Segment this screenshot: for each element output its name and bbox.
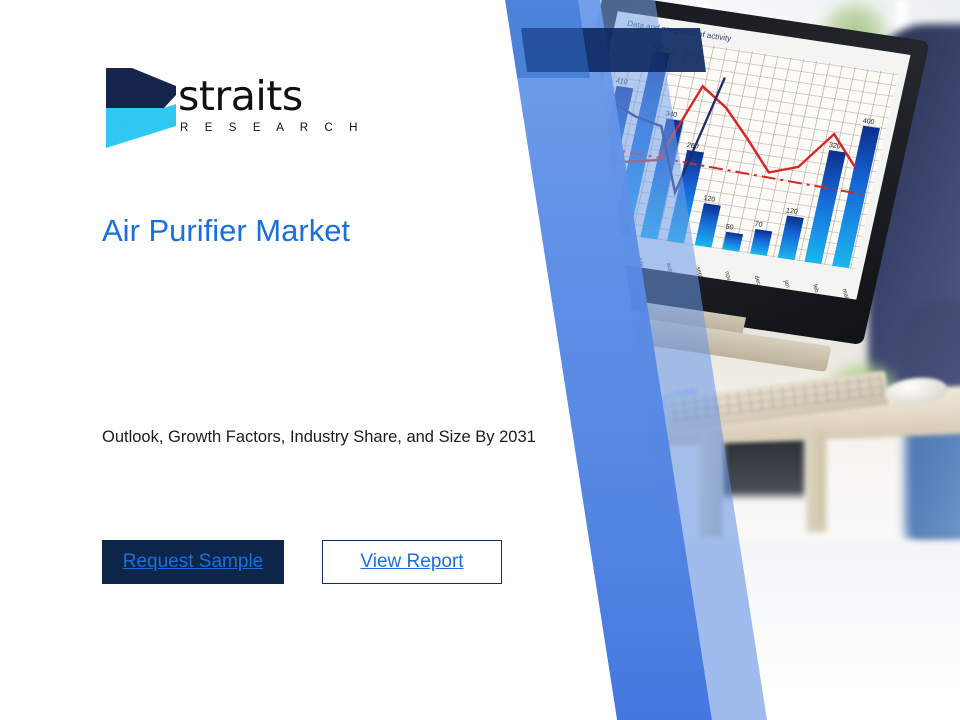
brand-tagline: R E S E A R C H [180, 122, 364, 134]
brand-name: straits [178, 76, 303, 117]
chart-month-label: july [636, 257, 644, 267]
chart-month-label: nov [723, 271, 731, 282]
cta-button-row: Request Sample View Report [102, 540, 502, 584]
page-title: Air Purifier Market [102, 212, 522, 251]
chart-plot-area: 4105203402601205070120320400 [580, 32, 898, 269]
band-top-accent [505, 0, 590, 78]
chart-month-label: jan [782, 279, 790, 288]
request-sample-label: Request Sample [123, 551, 263, 573]
chart-month-label: june [606, 253, 615, 266]
desk-shadow [722, 436, 806, 496]
chevron-arrow-logo-icon [102, 64, 180, 152]
chart-month-label: dec [753, 275, 761, 286]
trend-line [582, 32, 898, 258]
brand-logo[interactable]: straits R E S E A R C H [102, 64, 402, 156]
desk-leg [806, 432, 826, 532]
chart-month-label: feb [811, 284, 819, 294]
person-jeans [905, 418, 960, 548]
foreground-table [600, 540, 960, 720]
slide-root: Data and prognosis of activity 410520340… [0, 0, 960, 720]
desktop-monitor-icon: Data and prognosis of activity 410520340… [536, 0, 930, 345]
page-subtitle: Outlook, Growth Factors, Industry Share,… [102, 426, 554, 449]
monitor-screen: Data and prognosis of activity 410520340… [564, 11, 911, 299]
chart-month-label: may [577, 249, 586, 262]
view-report-label: View Report [360, 551, 463, 573]
desk-leg [700, 432, 722, 537]
view-report-button[interactable]: View Report [322, 540, 502, 584]
request-sample-button[interactable]: Request Sample [102, 540, 284, 584]
